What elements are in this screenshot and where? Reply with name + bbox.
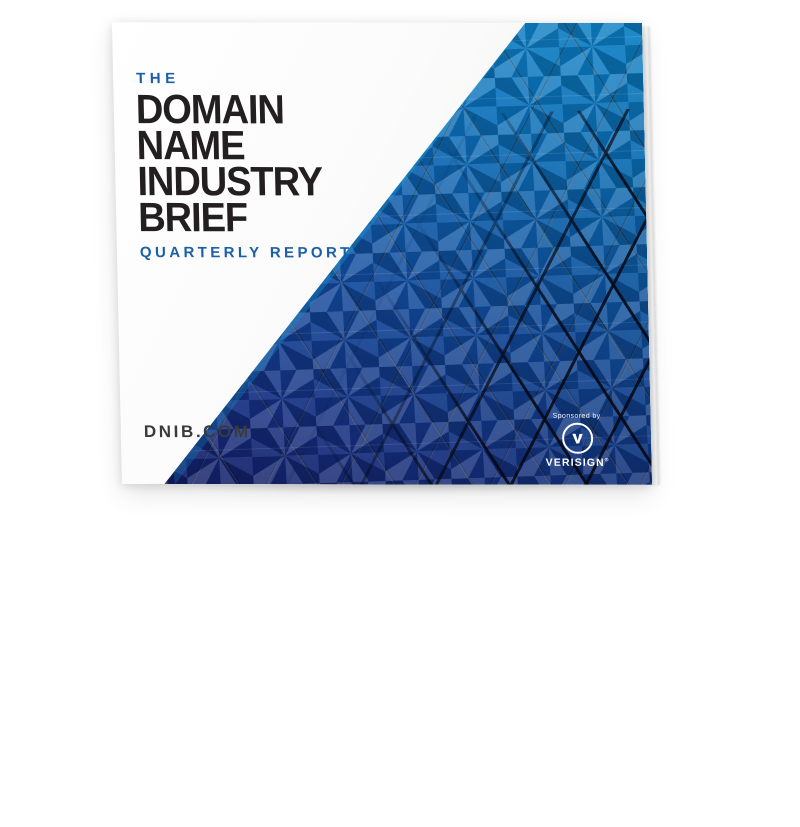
cover-subtitle: QUARTERLY REPORT	[140, 244, 479, 262]
scene-background: THE DOMAIN NAME INDUSTRY BRIEF QUARTERLY…	[0, 0, 800, 533]
sponsor-lockup: Sponsored by VERISIGN®	[531, 413, 624, 469]
cover-title-line-4: BRIEF	[138, 199, 455, 236]
reflection-eyebrow: THE	[151, 761, 490, 779]
cover-text-block: THE DOMAIN NAME INDUSTRY BRIEF QUARTERLY…	[135, 70, 479, 262]
cover-title: DOMAIN NAME INDUSTRY BRIEF	[135, 91, 454, 236]
reflection-title-line-1: DOMAIN	[149, 721, 466, 758]
reflection-title-line-2: NAME	[148, 685, 465, 722]
reflection-title-line-3: INDUSTRY	[148, 649, 465, 686]
sponsored-by-label: Sponsored by	[531, 413, 623, 420]
reflection-title-line-4: BRIEF	[147, 613, 464, 650]
verisign-wordmark: VERISIGN®	[532, 457, 624, 469]
verisign-brand-text: VERISIGN	[546, 457, 605, 469]
verisign-v-icon	[561, 423, 593, 454]
cover-eyebrow: THE	[136, 70, 475, 88]
reflection-title: DOMAIN NAME INDUSTRY BRIEF	[147, 613, 466, 758]
reflection-subtitle: QUARTERLY REPORT	[147, 587, 486, 605]
cover-website-url: DNIB.COM	[144, 422, 251, 442]
reflection-text-block: THE DOMAIN NAME INDUSTRY BRIEF QUARTERLY…	[146, 587, 490, 779]
trademark-symbol: ®	[605, 457, 610, 463]
cover-front-face[interactable]: THE DOMAIN NAME INDUSTRY BRIEF QUARTERLY…	[112, 22, 652, 485]
report-cover[interactable]: THE DOMAIN NAME INDUSTRY BRIEF QUARTERLY…	[112, 22, 652, 485]
